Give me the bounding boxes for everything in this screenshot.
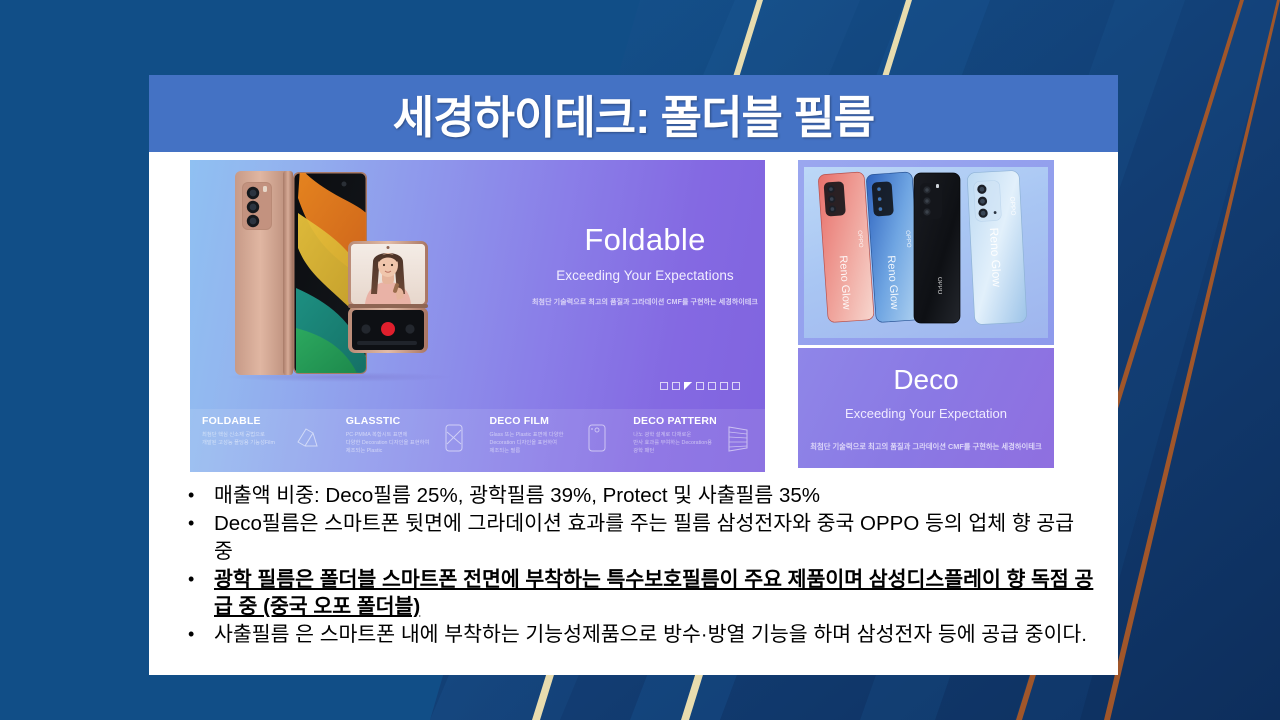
feature-title: GLASSTIC [346,416,430,428]
feature-desc-line: 광학 패턴 [633,447,717,455]
feature-desc-line: Glass 또는 Plastic 표면에 다양한 [490,431,564,439]
bullet-marker: • [181,510,214,536]
slide: 세경하이테크: 폴더블 필름 [149,75,1118,675]
bullet-item-3-highlighted: • 광학 필름은 폴더블 스마트폰 전면에 부착하는 특수보호필름이 주요 제품… [181,566,1096,621]
pagination-square-6[interactable] [720,382,728,390]
foldable-device-icon [294,424,320,450]
deco-film-icon [587,424,607,452]
deco-korean-tagline: 최첨단 기술력으로 최고의 품질과 그라데이션 CMF를 구현하는 세경하이테크 [798,442,1054,452]
reno-glow-photo-inner: OPPO Reno Glow OPPO Reno Glow [804,167,1048,338]
bullet-list: • 매출액 비중: Deco필름 25%, 광학필름 39%, Protect … [181,482,1096,650]
page-title: 세경하이테크: 폴더블 필름 [149,75,1118,152]
bullet-text: Deco필름은 스마트폰 뒷면에 그라데이션 효과를 주는 필름 삼성전자와 중… [214,510,1096,565]
oppo-logo-text: OPPO [904,230,911,248]
bullet-marker: • [181,621,214,647]
bullet-text: 사출필름 은 스마트폰 내에 부착하는 기능성제품으로 방수·방열 기능을 하며… [214,621,1096,648]
oppo-logo-text: OPPO [936,277,942,295]
feature-desc-line: 최첨단 핵심 신소재 공법으로 [202,431,275,439]
pagination-square-1[interactable] [660,382,668,390]
bullet-text: 광학 필름은 폴더블 스마트폰 전면에 부착하는 특수보호필름이 주요 제품이며… [214,566,1096,621]
foldable-heading: Foldable [530,222,760,258]
foldable-feature-row: FOLDABLE 최첨단 핵심 신소재 공법으로 개발된 고성능 폴딩용 기능성… [190,409,765,472]
galaxy-flip-phone-graphic [335,238,465,373]
oppo-logo-text: OPPO [856,230,863,248]
feature-desc-line: 다양한 Decoration 디자인을 표현하여 [346,439,430,447]
feature-desc-line: 반사 효과를 부여하는 Decoration용 [633,439,717,447]
bullet-item-1: • 매출액 비중: Deco필름 25%, 광학필름 39%, Protect … [181,482,1096,509]
feature-title: DECO FILM [490,416,564,428]
feature-foldable: FOLDABLE 최첨단 핵심 신소재 공법으로 개발된 고성능 폴딩용 기능성… [190,409,334,472]
feature-title: FOLDABLE [202,416,275,428]
deco-banner-image: Deco Exceeding Your Expectation 최첨단 기술력으… [798,348,1054,468]
feature-glasstic: GLASSTIC PC·PMMA 복합시트 표면에 다양한 Decoration… [334,409,478,472]
foldable-korean-tagline: 최첨단 기술력으로 최고의 품질과 그라데이션 CMF를 구현하는 세경하이테크 [490,297,765,307]
oppo-phones-graphic: OPPO Reno Glow OPPO Reno Glow [804,167,1048,338]
feature-desc-line: PC·PMMA 복합시트 표면에 [346,431,430,439]
feature-desc-line: 개발된 고성능 폴딩용 기능성Film [202,439,275,447]
foldable-banner-image: Foldable Exceeding Your Expectations 최첨단… [190,160,765,472]
banner-pagination[interactable] [660,382,760,390]
feature-deco-pattern: DECO PATTERN 나노 광학 설계로 다채로운 반사 효과를 부여하는 … [621,409,765,472]
feature-deco-film: DECO FILM Glass 또는 Plastic 표면에 다양한 Decor… [478,409,622,472]
pagination-square-7[interactable] [732,382,740,390]
bullet-marker: • [181,482,214,508]
bullet-text: 매출액 비중: Deco필름 25%, 광학필름 39%, Protect 및 … [214,482,1096,509]
pagination-square-3-active[interactable] [684,382,692,390]
pagination-square-4[interactable] [696,382,704,390]
pagination-square-2[interactable] [672,382,680,390]
feature-title: DECO PATTERN [633,416,717,428]
feature-desc-line: 제조되는 Plastic [346,447,430,455]
bullet-marker: • [181,566,214,592]
deco-pattern-icon [725,424,751,452]
deco-subheading: Exceeding Your Expectation [798,406,1054,421]
glasstic-sheet-icon [444,424,464,452]
pagination-square-5[interactable] [708,382,716,390]
feature-desc-line: 제조되는 필름 [490,447,564,455]
reno-glow-photo: OPPO Reno Glow OPPO Reno Glow [798,160,1054,345]
feature-desc-line: Decoration 디자인을 표현하여 [490,439,564,447]
bullet-item-2: • Deco필름은 스마트폰 뒷면에 그라데이션 효과를 주는 필름 삼성전자와… [181,510,1096,565]
bullet-item-4: • 사출필름 은 스마트폰 내에 부착하는 기능성제품으로 방수·방열 기능을 … [181,621,1096,648]
feature-desc-line: 나노 광학 설계로 다채로운 [633,431,717,439]
slide-content: Foldable Exceeding Your Expectations 최첨단… [149,152,1118,675]
oppo-logo-text: OPPO [1008,197,1016,216]
foldable-subheading: Exceeding Your Expectations [510,268,765,283]
deco-heading: Deco [798,364,1054,396]
